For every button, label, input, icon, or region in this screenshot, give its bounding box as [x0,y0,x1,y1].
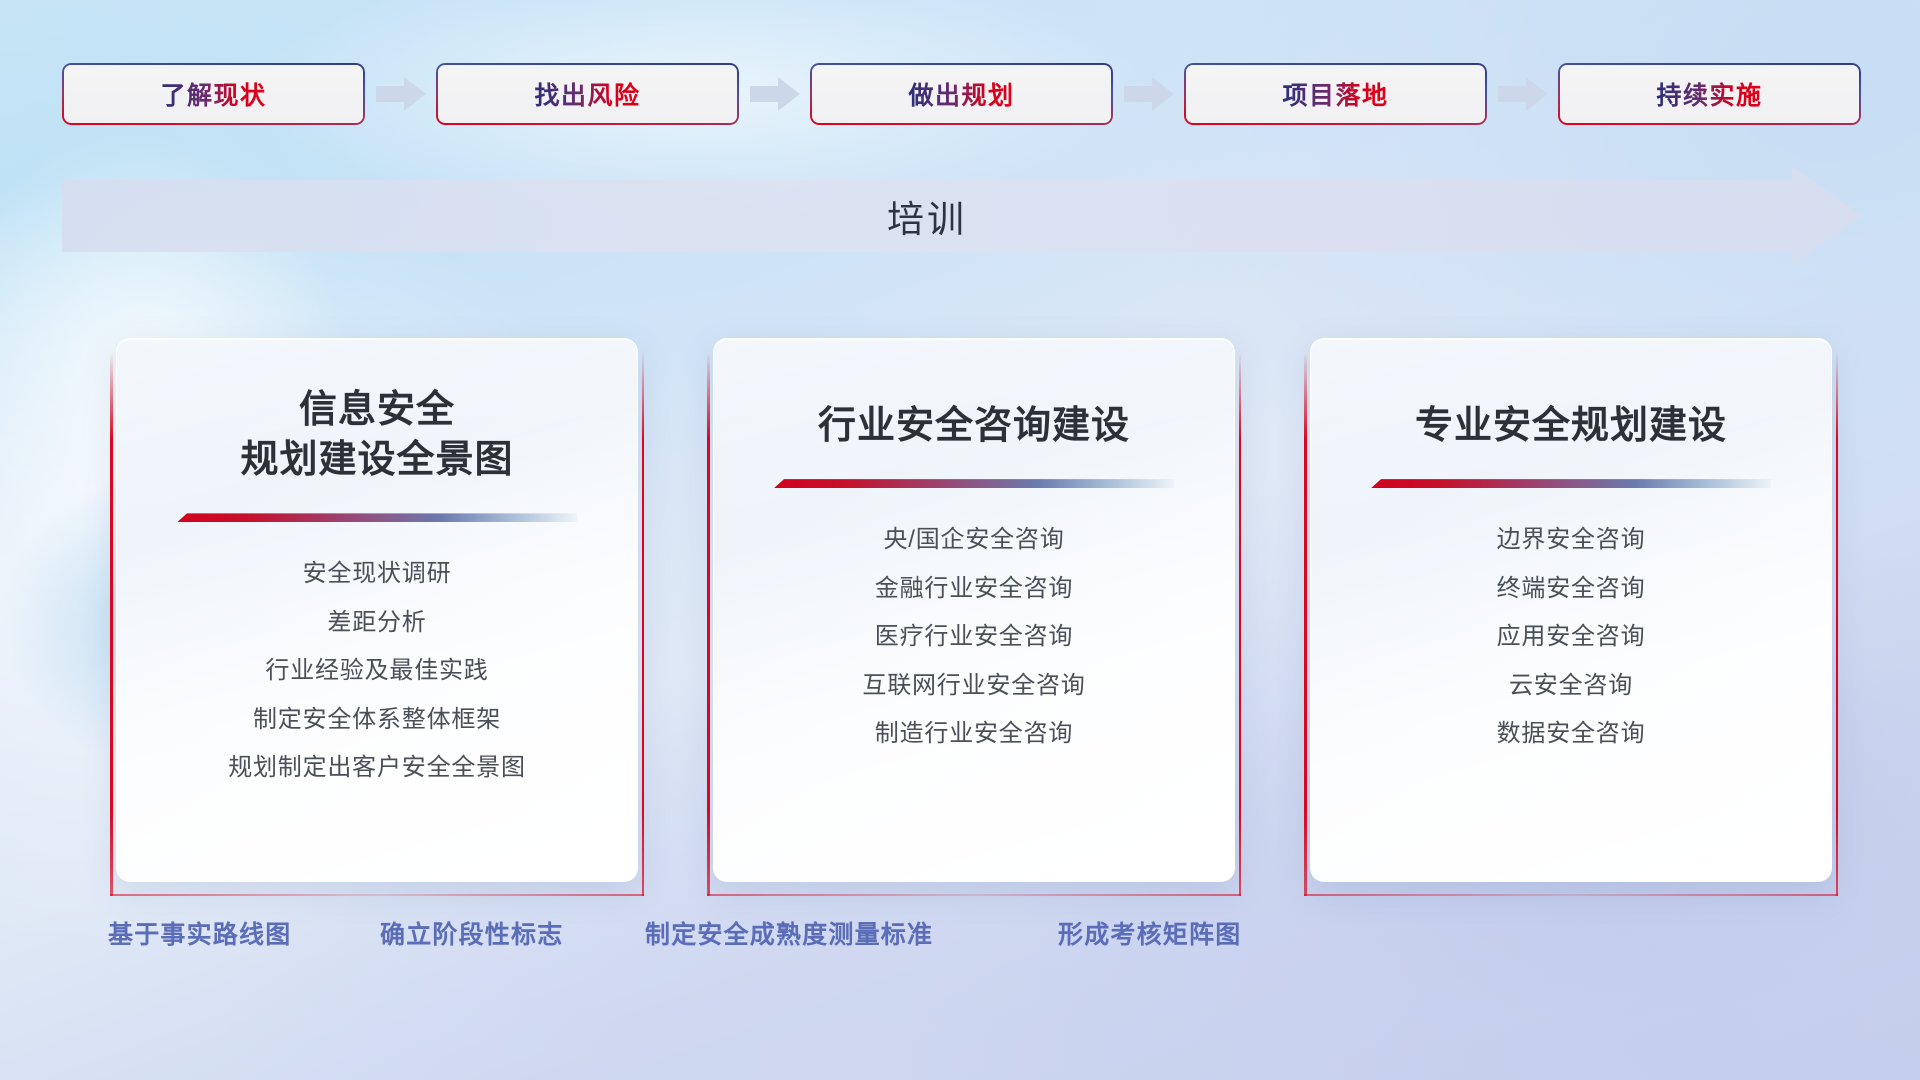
card-accent-line-bottom-1 [110,894,644,897]
footer-caption-row: 基于事实路线图 确立阶段性标志 制定安全成熟度测量标准 形成考核矩阵图 [0,915,1920,965]
slide-canvas: 了解现状 找出风险 做出规划 项目落地 [0,0,1920,1080]
list-item: 互联网行业安全咨询 [862,668,1085,704]
card-title-1: 信息安全 规划建设全景图 [240,385,513,485]
step-box-2[interactable]: 找出风险 [436,63,739,125]
banner-label: 培训 [62,166,1792,266]
footer-caption-2: 确立阶段性标志 [380,915,563,951]
step-box-4[interactable]: 项目落地 [1184,63,1487,125]
step-label-4: 项目落地 [1282,76,1388,112]
card-divider-2 [774,479,1174,488]
list-item: 应用安全咨询 [1497,619,1646,655]
step-box-3[interactable]: 做出规划 [810,63,1113,125]
step-arrow-icon-2 [739,74,810,114]
list-item: 金融行业安全咨询 [875,571,1073,607]
card-wrapper-1: 信息安全 规划建设全景图 安全现状调研 差距分析 行业经验及最佳实践 制定安全体… [110,338,644,882]
list-item: 央/国企安全咨询 [883,522,1064,558]
footer-caption-4: 形成考核矩阵图 [1058,915,1241,951]
list-item: 差距分析 [327,605,426,641]
card-divider-3 [1371,479,1771,488]
step-box-1[interactable]: 了解现状 [62,63,365,125]
step-label-1: 了解现状 [160,76,266,112]
step-arrow-icon-4 [1487,74,1558,114]
card-accent-line-left-1 [110,352,113,896]
step-label-3: 做出规划 [908,76,1014,112]
list-item: 终端安全咨询 [1497,571,1646,607]
list-item: 制造行业安全咨询 [875,716,1073,752]
card-accent-line-bottom-2 [707,894,1241,897]
list-item: 云安全咨询 [1509,668,1633,704]
list-item: 安全现状调研 [303,556,452,592]
step-label-2: 找出风险 [534,76,640,112]
card-accent-line-right-2 [1239,352,1242,896]
card-accent-line-right-3 [1836,352,1839,896]
list-item: 边界安全咨询 [1497,522,1646,558]
card-accent-line-right-1 [642,352,645,896]
card-list-1: 安全现状调研 差距分析 行业经验及最佳实践 制定安全体系整体框架 规划制定出客户… [117,556,637,786]
footer-caption-3: 制定安全成熟度测量标准 [645,915,933,951]
card-title-2: 行业安全咨询建设 [818,401,1130,451]
process-step-flow: 了解现状 找出风险 做出规划 项目落地 [62,63,1862,125]
card-accent-line-left-3 [1304,352,1307,896]
capability-card-2[interactable]: 行业安全咨询建设 央/国企安全咨询 金融行业安全咨询 医疗行业安全咨询 互联网行… [713,338,1235,882]
card-accent-line-bottom-3 [1304,894,1838,897]
card-accent-line-left-2 [707,352,710,896]
capability-card-3[interactable]: 专业安全规划建设 边界安全咨询 终端安全咨询 应用安全咨询 云安全咨询 数据安全… [1310,338,1832,882]
list-item: 制定安全体系整体框架 [253,702,501,738]
list-item: 医疗行业安全咨询 [875,619,1073,655]
step-box-5[interactable]: 持续实施 [1558,63,1861,125]
list-item: 规划制定出客户安全全景图 [228,750,526,786]
card-list-2: 央/国企安全咨询 金融行业安全咨询 医疗行业安全咨询 互联网行业安全咨询 制造行… [714,522,1234,752]
training-banner: 培训 [62,166,1862,266]
footer-caption-1: 基于事实路线图 [108,915,291,951]
card-divider-1 [177,513,577,522]
capability-card-row: 信息安全 规划建设全景图 安全现状调研 差距分析 行业经验及最佳实践 制定安全体… [110,338,1840,882]
list-item: 数据安全咨询 [1497,716,1646,752]
step-arrow-icon-3 [1113,74,1184,114]
list-item: 行业经验及最佳实践 [265,653,488,689]
step-arrow-icon-1 [365,74,436,114]
card-list-3: 边界安全咨询 终端安全咨询 应用安全咨询 云安全咨询 数据安全咨询 [1311,522,1831,752]
step-label-5: 持续实施 [1656,76,1762,112]
card-wrapper-3: 专业安全规划建设 边界安全咨询 终端安全咨询 应用安全咨询 云安全咨询 数据安全… [1304,338,1838,882]
card-wrapper-2: 行业安全咨询建设 央/国企安全咨询 金融行业安全咨询 医疗行业安全咨询 互联网行… [707,338,1241,882]
card-title-3: 专业安全规划建设 [1415,401,1727,451]
capability-card-1[interactable]: 信息安全 规划建设全景图 安全现状调研 差距分析 行业经验及最佳实践 制定安全体… [116,338,638,882]
